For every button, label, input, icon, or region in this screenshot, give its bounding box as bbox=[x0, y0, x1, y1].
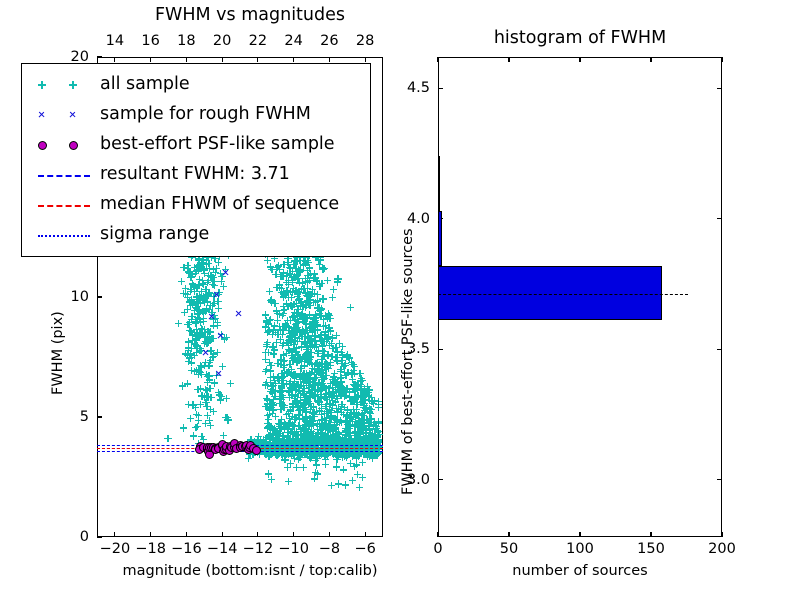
left-plot-xlabel: magnitude (bottom:isnt / top:calib) bbox=[122, 563, 377, 579]
hist-x-tick-label: 0 bbox=[433, 541, 442, 557]
x-tick-label-top: 14 bbox=[106, 33, 124, 49]
legend-item-label: best-effort PSF-like sample bbox=[100, 136, 335, 154]
legend-item: best-effort PSF-like sample bbox=[28, 130, 361, 160]
legend-item: sigma range bbox=[28, 220, 361, 250]
x-tick-label: −16 bbox=[171, 541, 202, 557]
legend-item-label: sigma range bbox=[100, 226, 209, 244]
histogram-bar bbox=[438, 266, 662, 321]
legend-key-cross-marker bbox=[28, 100, 100, 130]
x-tick-label: −18 bbox=[135, 541, 166, 557]
left-plot-ylabel: FWHM (pix) bbox=[50, 311, 66, 395]
hist-x-tick-label: 200 bbox=[708, 541, 736, 557]
x-tick-label: −10 bbox=[278, 541, 309, 557]
hist-y-tick-label: 4.5 bbox=[386, 80, 430, 96]
histogram-xlabel: number of sources bbox=[512, 563, 648, 579]
x-tick-label-top: 28 bbox=[356, 33, 374, 49]
hist-x-tick-label: 100 bbox=[566, 541, 594, 557]
y-tick-label: 0 bbox=[0, 529, 89, 545]
legend: all samplesample for rough FWHMbest-effo… bbox=[21, 63, 371, 257]
right-panel-title: histogram of FWHM bbox=[494, 28, 666, 48]
x-tick-label-top: 18 bbox=[177, 33, 195, 49]
legend-key-filled-circle-marker bbox=[28, 130, 100, 160]
x-tick-label: −12 bbox=[243, 541, 274, 557]
legend-item: resultant FWHM: 3.71 bbox=[28, 160, 361, 190]
x-tick-label-top: 24 bbox=[284, 33, 302, 49]
legend-item: all sample bbox=[28, 70, 361, 100]
histogram-resultant-fwhm-line bbox=[438, 294, 688, 295]
dash-dot-line bbox=[38, 235, 90, 237]
hist-y-tick-label: 4.0 bbox=[386, 211, 430, 227]
hist-x-tick-label: 50 bbox=[500, 541, 518, 557]
legend-key-dash-dot-line bbox=[28, 220, 100, 250]
filled-circle-marker bbox=[38, 141, 47, 150]
x-tick-label: −8 bbox=[319, 541, 340, 557]
legend-item: median FHWM of sequence bbox=[28, 190, 361, 220]
x-tick-label-top: 22 bbox=[249, 33, 267, 49]
x-tick-label-top: 20 bbox=[213, 33, 231, 49]
legend-key-dashed-line bbox=[28, 190, 100, 220]
x-tick-label-top: 16 bbox=[141, 33, 159, 49]
y-tick-label: 10 bbox=[0, 289, 89, 305]
hist-x-tick-label: 150 bbox=[637, 541, 665, 557]
legend-item-label: resultant FWHM: 3.71 bbox=[100, 166, 290, 184]
x-tick-label: −14 bbox=[207, 541, 238, 557]
x-tick-label-top: 26 bbox=[320, 33, 338, 49]
left-panel-title: FWHM vs magnitudes bbox=[155, 5, 345, 25]
figure-canvas: FWHM vs magnitudes −20−18−16−14−12−10−8−… bbox=[0, 0, 800, 600]
legend-item-label: all sample bbox=[100, 76, 190, 94]
histogram-ylabel: FWHM of best-effort PSF-like sources bbox=[400, 228, 416, 495]
legend-key-plus-marker bbox=[28, 70, 100, 100]
legend-item: sample for rough FWHM bbox=[28, 100, 361, 130]
x-tick-label: −6 bbox=[354, 541, 375, 557]
histogram-data-layer bbox=[438, 57, 722, 537]
legend-item-label: sample for rough FWHM bbox=[100, 106, 311, 124]
histogram-bar bbox=[438, 211, 442, 266]
dashed-line bbox=[38, 175, 90, 177]
dashed-line bbox=[38, 205, 90, 207]
filled-circle-marker bbox=[69, 141, 78, 150]
histogram-bar bbox=[438, 156, 440, 211]
legend-key-dashed-line bbox=[28, 160, 100, 190]
x-tick-label: −20 bbox=[100, 541, 131, 557]
y-tick-label: 5 bbox=[0, 409, 89, 425]
legend-item-label: median FHWM of sequence bbox=[100, 196, 339, 214]
